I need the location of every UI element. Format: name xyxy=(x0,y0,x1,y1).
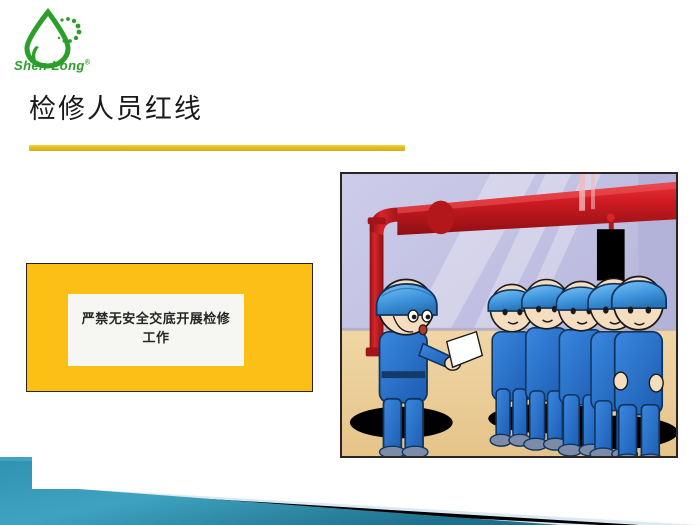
illus-redaction-box xyxy=(597,229,625,280)
warning-callout-inner-box: 严禁无安全交底开展检修工作 xyxy=(68,294,244,366)
slide-canvas: Shen Long® 检修人员红线 严禁无安全交底开展检修工作 xyxy=(0,0,700,525)
logo-brand-text: Shen Long® xyxy=(14,58,90,73)
safety-briefing-illustration xyxy=(340,172,678,458)
warning-callout-text: 严禁无安全交底开展检修工作 xyxy=(81,311,231,349)
title-underline-rule xyxy=(29,145,405,151)
bottom-diagonal-band xyxy=(0,445,700,525)
warning-callout: 严禁无安全交底开展检修工作 xyxy=(26,263,313,392)
page-title: 检修人员红线 xyxy=(29,96,203,123)
shen-long-logo: Shen Long® xyxy=(8,8,100,80)
logo-trademark: ® xyxy=(85,60,91,67)
